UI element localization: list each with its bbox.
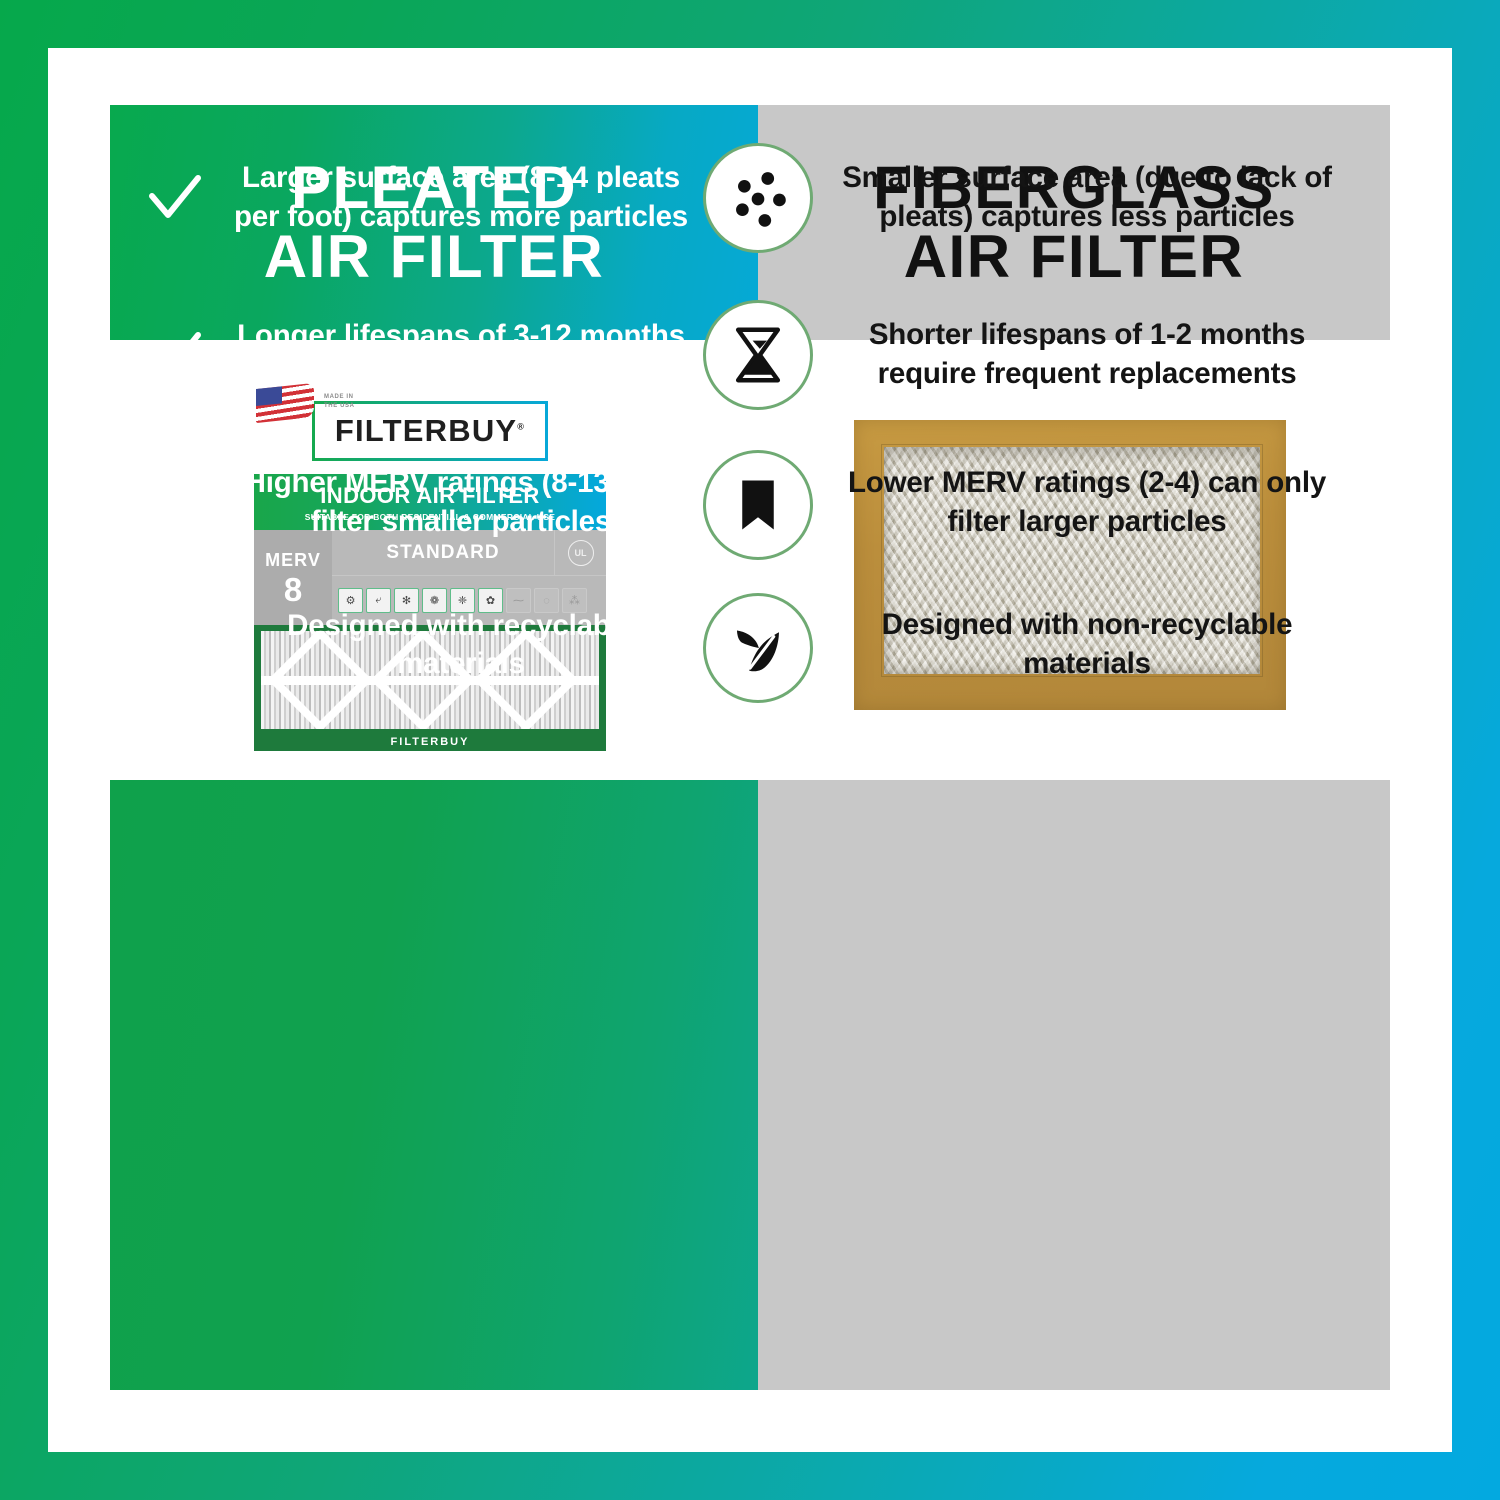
hourglass-icon: [703, 300, 813, 410]
checkmark-icon: [146, 169, 204, 227]
checkmark-icon: [146, 616, 204, 674]
checkmark-icon: [146, 326, 204, 384]
box-footer-brand: FILTERBUY: [261, 729, 599, 748]
fiberglass-drawback-text: Designed with non-recyclable materials: [820, 606, 1354, 684]
particles-icon: [703, 143, 813, 253]
pleated-cell: Higher MERV ratings (8-13) can filter sm…: [110, 430, 758, 575]
fiberglass-cell: Lower MERV ratings (2-4) can only filter…: [758, 430, 1390, 575]
fiberglass-cell: Smaller surface area (due to lack of ple…: [758, 115, 1390, 280]
bookmark-icon: [703, 450, 813, 560]
fiberglass-column-bg: [758, 780, 1390, 1390]
fiberglass-cell: Shorter lifespans of 1-2 months require …: [758, 280, 1390, 430]
pleated-benefit-text: Larger surface area (8-14 pleats per foo…: [222, 159, 700, 236]
comparison-rows: Larger surface area (8-14 pleats per foo…: [110, 105, 1390, 715]
leaf-icon: [703, 593, 813, 703]
pleated-benefit-text: Designed with recyclable materials: [222, 607, 700, 684]
pleated-benefit-text: Higher MERV ratings (8-13) can filter sm…: [222, 464, 700, 541]
pleated-cell: Longer lifespans of 3-12 months result i…: [110, 280, 758, 430]
infographic-poster: PLEATED AIR FILTER FIBERGLASS AIR FILTER…: [0, 0, 1500, 1500]
comparison-panels: [110, 780, 1390, 1390]
pleated-cell: Designed with recyclable materials: [110, 575, 758, 715]
comparison-content: PLEATED AIR FILTER FIBERGLASS AIR FILTER…: [110, 105, 1390, 1390]
pleated-column-bg: [110, 780, 758, 1390]
fiberglass-drawback-text: Smaller surface area (due to lack of ple…: [820, 159, 1354, 237]
pleated-cell: Larger surface area (8-14 pleats per foo…: [110, 115, 758, 280]
checkmark-icon: [146, 474, 204, 532]
fiberglass-cell: Designed with non-recyclable materials: [758, 575, 1390, 715]
fiberglass-drawback-text: Shorter lifespans of 1-2 months require …: [820, 316, 1354, 394]
fiberglass-drawback-text: Lower MERV ratings (2-4) can only filter…: [820, 464, 1354, 542]
pleated-benefit-text: Longer lifespans of 3-12 months result i…: [222, 317, 700, 394]
